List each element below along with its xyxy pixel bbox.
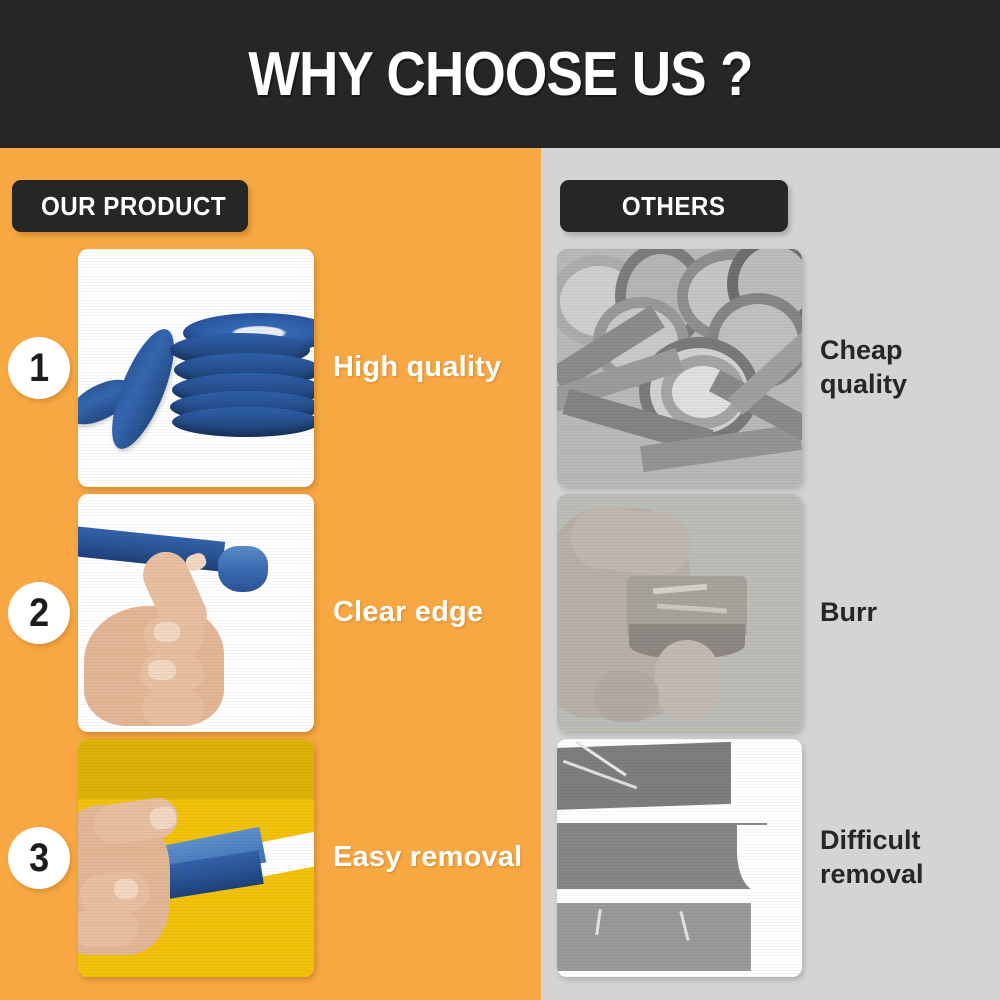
product-image-3 <box>78 739 314 977</box>
pile-of-gray-tape-rolls-art <box>557 249 802 487</box>
other-feature-label-1: Cheap quality <box>820 249 907 487</box>
product-feature-row-1: 1 High quality <box>0 249 541 487</box>
others-badge-label: OTHERS <box>622 191 726 222</box>
our-product-badge-label: OUR PRODUCT <box>41 191 226 222</box>
hand-peeling-blue-tape-yellow-art <box>78 739 314 977</box>
others-badge: OTHERS <box>560 180 788 232</box>
our-product-badge: OUR PRODUCT <box>12 180 248 232</box>
step-number-badge-3: 3 <box>8 827 70 889</box>
page-title: WHY CHOOSE US ? <box>248 39 752 110</box>
other-feature-label-2: Burr <box>820 494 877 732</box>
hand-holding-frayed-gray-tape-art <box>557 494 802 732</box>
product-image-1 <box>78 249 314 487</box>
other-feature-row-2: Burr <box>541 494 1000 732</box>
other-feature-row-3: Difficult removal <box>541 739 1000 977</box>
other-image-1 <box>557 249 802 487</box>
step-number-1: 1 <box>29 348 49 388</box>
step-number-3: 3 <box>29 838 49 878</box>
product-feature-row-3: 3 Easy removal <box>0 739 541 977</box>
other-image-3 <box>557 739 802 977</box>
step-number-badge-2: 2 <box>8 582 70 644</box>
header-banner: WHY CHOOSE US ? <box>0 0 1000 148</box>
blue-tape-rolls-stack-art <box>78 249 314 487</box>
why-choose-us-infographic: WHY CHOOSE US ? OUR PRODUCT OTHERS 1 <box>0 0 1000 1000</box>
other-feature-row-1: Cheap quality <box>541 249 1000 487</box>
hand-pulling-blue-tape-art <box>78 494 314 732</box>
product-feature-label-1: High quality <box>333 249 501 487</box>
product-image-2 <box>78 494 314 732</box>
product-feature-label-2: Clear edge <box>333 494 483 732</box>
product-feature-label-3: Easy removal <box>333 739 522 977</box>
step-number-badge-1: 1 <box>8 337 70 399</box>
other-image-2 <box>557 494 802 732</box>
step-number-2: 2 <box>29 593 49 633</box>
product-feature-row-2: 2 Clear edge <box>0 494 541 732</box>
other-feature-label-3: Difficult removal <box>820 739 924 977</box>
gray-torn-tape-strips-art <box>557 739 802 977</box>
